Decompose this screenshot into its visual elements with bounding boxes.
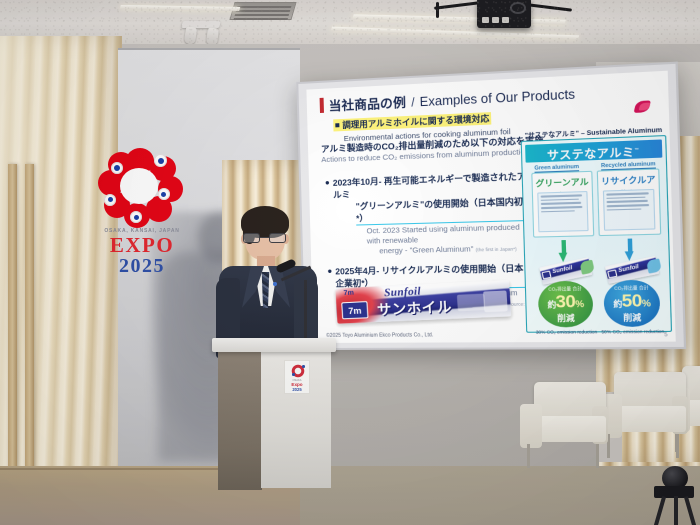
tripod-leg: [654, 496, 666, 525]
sunfoil-product-box: 7m Sunfoil 7m サンホイル: [335, 280, 511, 324]
bullet-0-note: (the first in Japan*): [476, 246, 517, 252]
projector-mount-arm: [436, 2, 439, 18]
bullet-0-jp2: "グリーンアルミ"の使用開始（日本国内初*）: [356, 195, 530, 226]
track-light-rail: [181, 21, 221, 28]
slide-title-separator: /: [411, 97, 415, 109]
projector-mount-arm: [528, 3, 572, 11]
green-aluminum-card: グリーンアルミ: [531, 171, 594, 238]
spotlight-icon: [184, 26, 197, 44]
podium-top-surface: [212, 338, 336, 352]
bullet-0-en2: energy - "Green Aluminum" (the first in …: [379, 243, 530, 258]
lectern-podium: OSAKA Expo 2025: [218, 338, 330, 490]
ceiling-projector: [477, 0, 531, 28]
microphone: [278, 256, 332, 348]
slide-title-japanese: 当社商品の例: [329, 92, 407, 115]
sustainable-panel-header: サステなアルミ™: [525, 139, 662, 162]
bullet-item: ● 2023年10月- 再生可能エネルギーで製造されたアルミ "グリーンアルミ"…: [325, 170, 531, 259]
slide-title-english: Examples of Our Products: [420, 87, 576, 109]
projector-mount-arm: [434, 1, 480, 10]
logo-eye: [104, 194, 116, 206]
logo-eye: [111, 162, 123, 174]
bullet-dot-icon: ●: [325, 177, 331, 201]
product-box-body: 7m Sunfoil 7m サンホイル: [335, 280, 511, 324]
chair-armrest: [520, 404, 542, 448]
recycled-aluminum-description: [603, 189, 656, 231]
floor: [0, 466, 700, 525]
green-aluminum-description: [537, 191, 588, 232]
expo-2025-logo: OSAKA, KANSAI, JAPAN EXPO 2025: [96, 148, 188, 266]
bullet-square-icon: [335, 123, 339, 127]
recycled-badge-value-row: 約50%: [604, 291, 661, 313]
company-logo-icon: [633, 99, 656, 115]
logo-eye: [130, 211, 142, 223]
recycled-badge-unit: %: [642, 298, 651, 309]
wall-seam: [118, 48, 300, 50]
recycled-badge-value: 50: [621, 291, 642, 311]
slide-page-number: 5: [664, 332, 668, 338]
wood-slat: [8, 164, 17, 494]
presentation-room-scene: OSAKA, KANSAI, JAPAN EXPO 2025: [0, 0, 700, 525]
mini-pack-accent: [579, 260, 595, 275]
sustainable-header-text: サステなアルミ: [547, 147, 635, 163]
ceiling-strip-light: [352, 14, 566, 25]
recycled-badge-prefix: 約: [613, 299, 622, 309]
microphone-pole: [304, 280, 307, 342]
green-flow-arrow-icon: [558, 240, 568, 263]
projection-screen: 当社商品の例 / Examples of Our Products 調理用アルミ…: [296, 62, 686, 350]
sustainable-aluminum-panel: サステなアルミ™ Green aluminum Recycled aluminu…: [521, 135, 672, 333]
product-size-badge: 7m: [341, 301, 368, 319]
product-box-side-panel: [483, 290, 508, 312]
ceiling-strip-light: [120, 5, 241, 11]
subtitle-jp-text: 調理用アルミホイルに関する環境対応: [342, 113, 489, 130]
projector-lens-icon: [510, 2, 526, 14]
podium-emblem-mark: [291, 364, 305, 378]
green-badge-footnote: 30% CO₂ emission reduction: [531, 329, 601, 335]
podium-expo-emblem: OSAKA Expo 2025: [284, 360, 310, 394]
microphone-capsule: [275, 258, 297, 273]
recycled-flow-arrow-icon: [624, 238, 635, 262]
bullet-0-en2-text: energy - "Green Aluminum": [379, 244, 473, 255]
wood-slat: [25, 164, 34, 494]
green-badge-unit: %: [575, 299, 584, 310]
presentation-slide: 当社商品の例 / Examples of Our Products 調理用アルミ…: [306, 71, 675, 343]
logo-diamond-inner: [639, 103, 651, 111]
spotlight-icon: [206, 27, 219, 45]
tripod-leg: [684, 496, 696, 525]
speaker-lapel-pin: [273, 282, 277, 286]
podium-side-panel: [218, 350, 262, 490]
recycled-aluminum-card: リサイクルアルミ: [597, 168, 661, 236]
product-brand-jp: サンホイル: [376, 296, 452, 320]
projector-buttons: [482, 17, 509, 23]
product-box-panel: [457, 294, 485, 312]
mini-pack-accent: [646, 258, 662, 273]
recycled-reduction-badge: CO₂排出量 合計 約50% 削減: [603, 280, 660, 327]
recycled-badge-footnote: 50% CO₂ emission reduction: [597, 329, 669, 335]
speaker-glasses: [243, 233, 287, 244]
tripod-leg: [674, 496, 678, 525]
podium-emblem-year: 2025: [285, 387, 309, 392]
expo-word: EXPO: [96, 234, 188, 256]
air-vent: [229, 2, 296, 20]
green-badge-value: 30: [555, 291, 575, 311]
slide-copyright: ©2025 Toyo Aluminium Ekco Products Co., …: [326, 332, 433, 339]
carpet-area: [300, 466, 700, 525]
green-badge-prefix: 約: [547, 300, 555, 310]
logo-eye: [154, 154, 167, 167]
title-accent-bar: [320, 98, 324, 113]
product-size-top: 7m: [343, 290, 354, 298]
trademark-symbol: ™: [634, 147, 639, 153]
recycled-badge-suffix: 削減: [604, 313, 660, 323]
armchair: [520, 382, 606, 470]
logo-center-hole: [120, 168, 158, 204]
armchair: [600, 372, 686, 460]
green-reduction-badge: CO₂排出量 合計 約30% 削減: [538, 281, 594, 328]
green-badge-suffix: 削減: [539, 313, 594, 323]
screen-frame: 当社商品の例 / Examples of Our Products 調理用アルミ…: [296, 62, 686, 350]
glasses-lens: [243, 233, 260, 243]
expo-year: 2025: [96, 256, 188, 276]
myaku-myaku-mark: [96, 148, 188, 230]
green-badge-value-row: 約30%: [538, 292, 593, 314]
glasses-bridge: [260, 237, 269, 238]
green-badge-caption: CO₂排出量 合計: [538, 286, 593, 293]
glasses-lens: [269, 233, 286, 243]
video-camera-tripod: [652, 466, 700, 525]
expo-wordmark: OSAKA, KANSAI, JAPAN EXPO 2025: [96, 228, 188, 276]
recycled-badge-caption: CO₂排出量 合計: [603, 285, 659, 292]
logo-eye: [158, 188, 170, 200]
ceiling-strip-light: [331, 27, 580, 40]
